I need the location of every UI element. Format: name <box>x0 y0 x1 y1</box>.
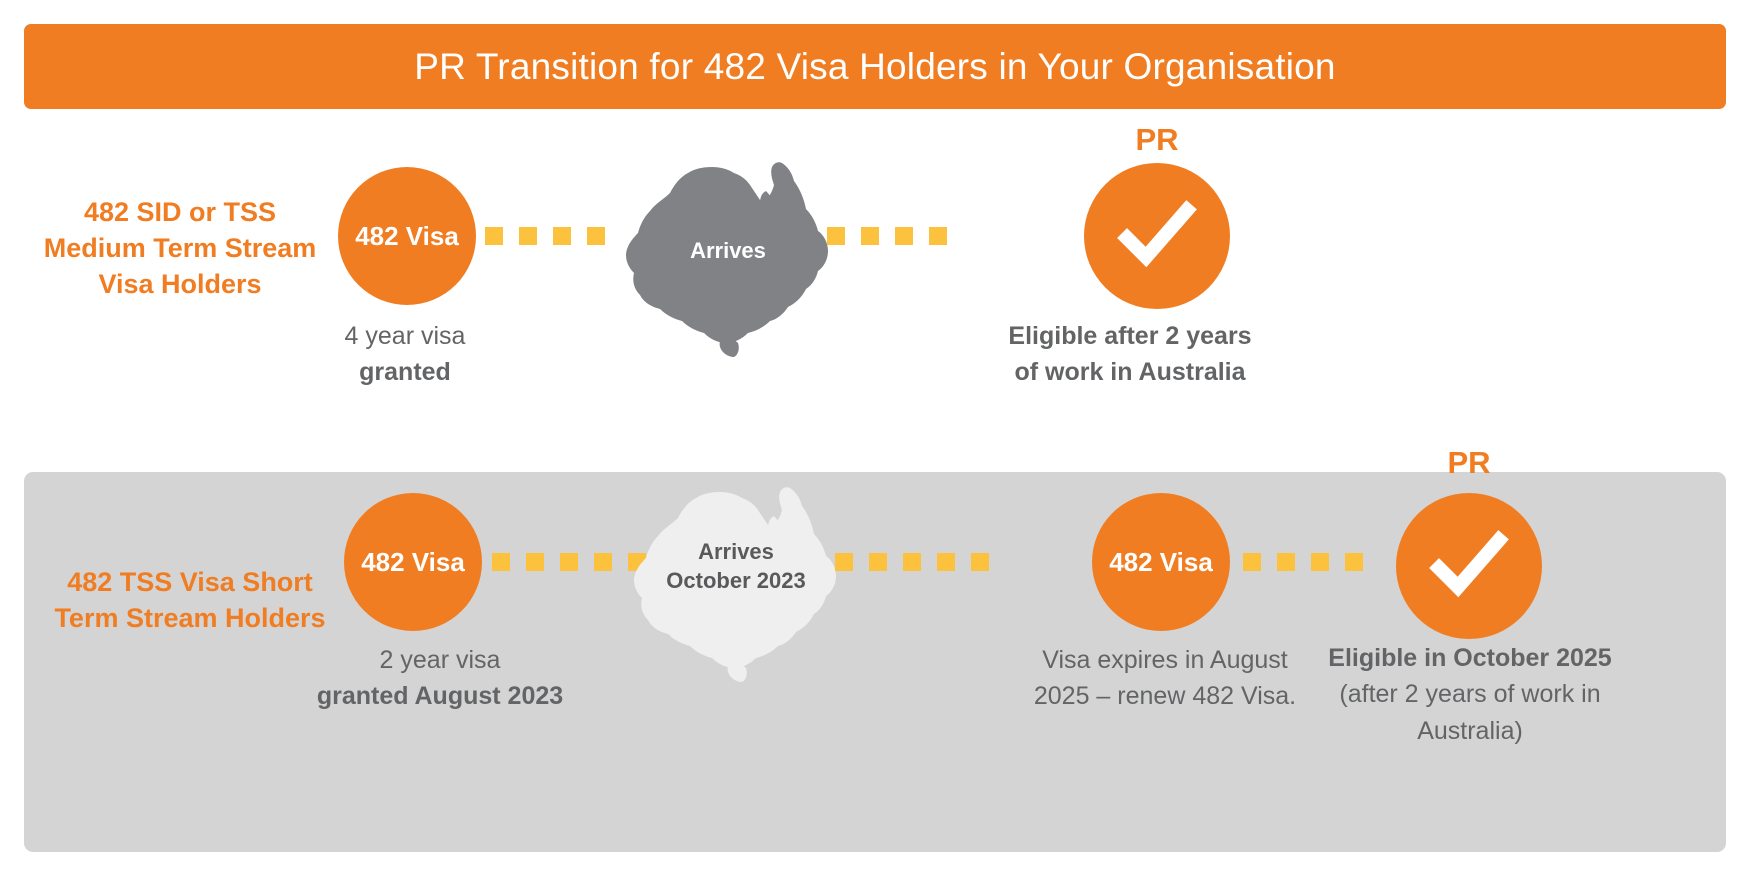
row2-pr-circle <box>1396 493 1542 639</box>
dash-segment <box>553 227 571 245</box>
row2-start-circle-label: 482 Visa <box>361 547 465 578</box>
caption-line: 2025 – renew 482 Visa. <box>1020 678 1310 714</box>
australia-map-icon <box>614 155 842 358</box>
infographic-root: PR Transition for 482 Visa Holders in Yo… <box>0 0 1750 875</box>
row2-mid-circle: 482 Visa <box>1092 493 1230 631</box>
row1-pr-caption: Eligible after 2 years of work in Austra… <box>920 318 1340 391</box>
dash-segment <box>929 227 947 245</box>
dash-segment <box>835 553 853 571</box>
row2-pr-caption: Eligible in October 2025 (after 2 years … <box>1315 640 1625 749</box>
checkmark-icon <box>1115 194 1199 278</box>
dash-segment <box>895 227 913 245</box>
row2-connector-three <box>1243 553 1363 571</box>
caption-line: Eligible after 2 years <box>920 318 1340 354</box>
row1-side-label: 482 SID or TSS Medium Term Stream Visa H… <box>30 195 330 303</box>
dash-segment <box>861 227 879 245</box>
dash-segment <box>1311 553 1329 571</box>
australia-map-icon <box>622 480 850 683</box>
dash-segment <box>594 553 612 571</box>
caption-line: 4 year visa <box>285 318 525 354</box>
dash-segment <box>519 227 537 245</box>
caption-line: Australia) <box>1315 713 1625 749</box>
row1-connector-left <box>485 227 605 245</box>
row1-pr-circle <box>1084 163 1230 309</box>
row2-start-circle: 482 Visa <box>344 493 482 631</box>
row2-start-caption: 2 year visa granted August 2023 <box>290 642 590 715</box>
caption-line: Eligible in October 2025 <box>1315 640 1625 676</box>
dash-segment <box>971 553 989 571</box>
dash-segment <box>937 553 955 571</box>
row2-australia-map: Arrives October 2023 <box>622 480 850 683</box>
checkmark-icon <box>1427 524 1511 608</box>
dash-segment <box>1277 553 1295 571</box>
dash-segment <box>587 227 605 245</box>
row1-australia-map: Arrives <box>614 155 842 358</box>
row2-pr-label: PR <box>1399 445 1539 481</box>
page-title: PR Transition for 482 Visa Holders in Yo… <box>414 46 1335 88</box>
row2-connector-two <box>835 553 989 571</box>
row1-start-caption: 4 year visa granted <box>285 318 525 391</box>
dash-segment <box>903 553 921 571</box>
dash-segment <box>869 553 887 571</box>
dash-segment <box>1243 553 1261 571</box>
dash-segment <box>485 227 503 245</box>
caption-line: (after 2 years of work in <box>1315 676 1625 712</box>
row2-mid-circle-label: 482 Visa <box>1109 547 1213 578</box>
caption-line: granted <box>285 354 525 390</box>
dash-segment <box>827 227 845 245</box>
dash-segment <box>492 553 510 571</box>
caption-line: granted August 2023 <box>290 678 590 714</box>
caption-line: of work in Australia <box>920 354 1340 390</box>
row1-start-circle: 482 Visa <box>338 167 476 305</box>
row2-side-label: 482 TSS Visa Short Term Stream Holders <box>40 565 340 637</box>
dash-segment <box>1345 553 1363 571</box>
header-banner: PR Transition for 482 Visa Holders in Yo… <box>24 24 1726 109</box>
row1-connector-right <box>827 227 947 245</box>
row2-mid-caption: Visa expires in August 2025 – renew 482 … <box>1020 642 1310 715</box>
row1-pr-label: PR <box>1087 122 1227 158</box>
dash-segment <box>560 553 578 571</box>
caption-line: 2 year visa <box>290 642 590 678</box>
dash-segment <box>526 553 544 571</box>
row1-start-circle-label: 482 Visa <box>355 221 459 252</box>
caption-line: Visa expires in August <box>1020 642 1310 678</box>
